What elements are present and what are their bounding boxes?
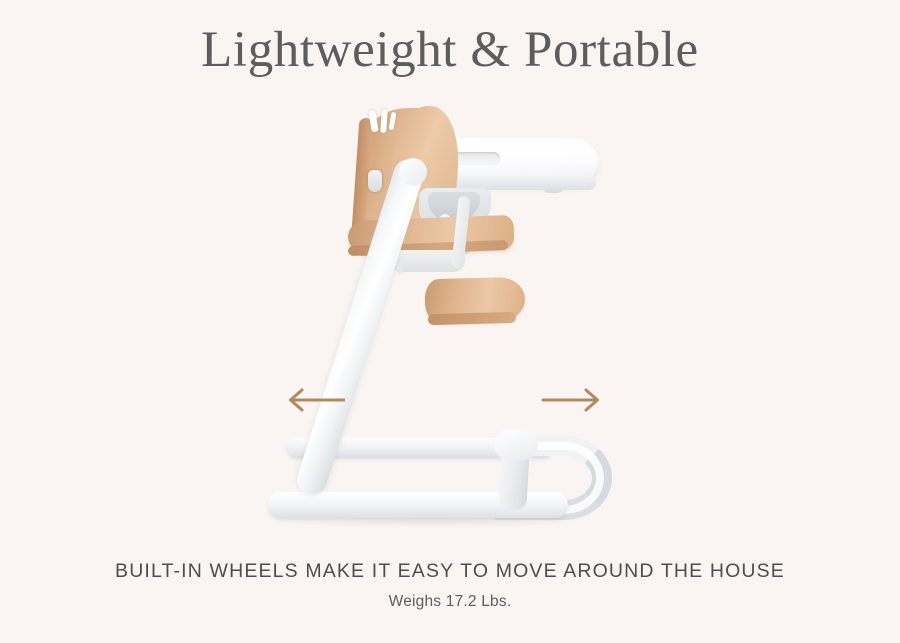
product-image — [0, 0, 900, 643]
harness-buckle — [368, 170, 382, 192]
tray-release-tab — [542, 183, 564, 193]
front-leg-cap — [399, 158, 427, 186]
weight-caption: Weighs 17.2 Lbs. — [0, 593, 900, 611]
arrow-right-icon — [541, 386, 603, 414]
chair-footrest-edge — [428, 312, 516, 325]
promo-slide: Lightweight & Portable — [0, 0, 900, 643]
arrow-left-icon — [285, 386, 345, 414]
base-leg-junction — [494, 430, 538, 460]
feature-caption: BUILT-IN WHEELS MAKE IT EASY TO MOVE ARO… — [0, 560, 900, 583]
